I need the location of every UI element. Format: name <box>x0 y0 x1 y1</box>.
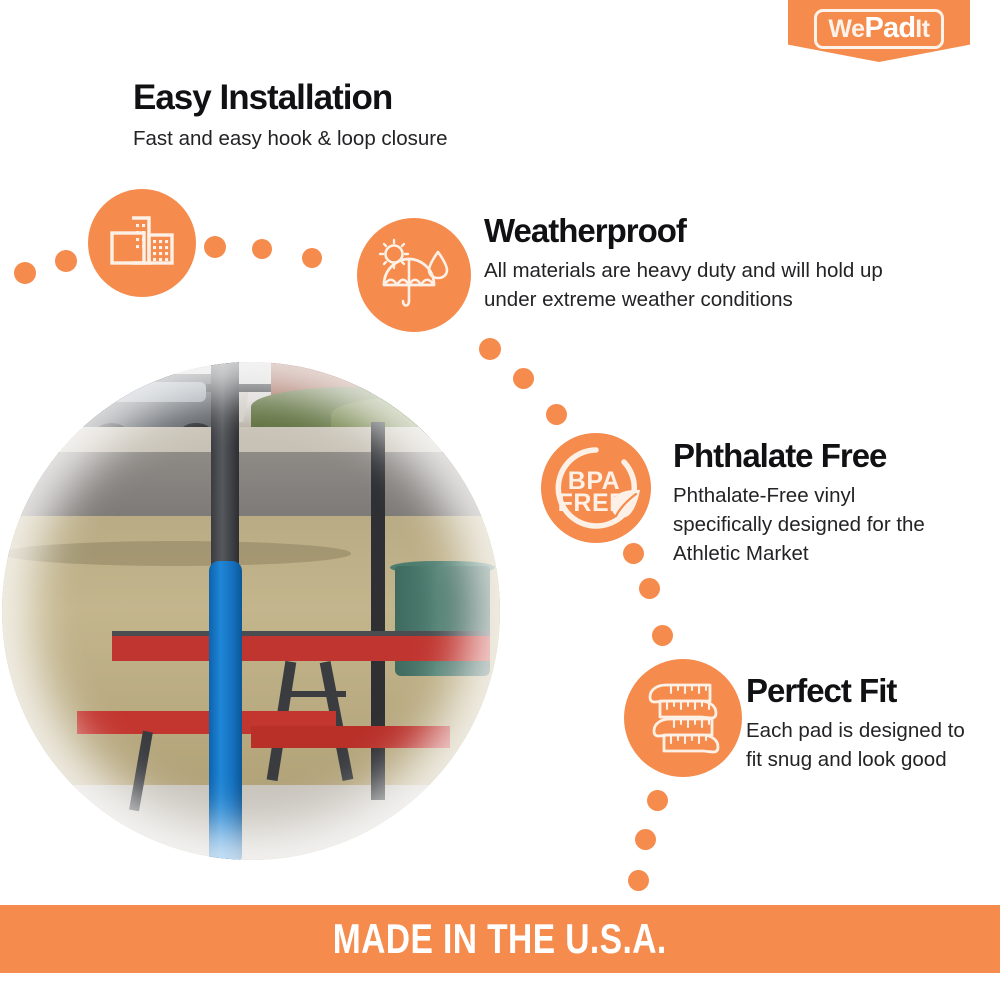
brand-logo-frame: We Pad It <box>814 9 943 49</box>
trail-dot <box>55 250 77 272</box>
feature-title-weatherproof: Weatherproof <box>484 213 686 249</box>
feature-description-perfect-fit: Each pad is designed to fit snug and loo… <box>746 716 974 774</box>
photo-vignette <box>2 362 500 860</box>
made-in-usa-banner: MADE IN THE U.S.A. <box>0 905 1000 973</box>
trail-dot <box>647 790 668 811</box>
trail-dot <box>204 236 226 258</box>
brand-logo: We Pad It <box>788 0 970 62</box>
product-photo <box>2 362 500 860</box>
bpa-free-leaf-icon: BPA FREE <box>541 433 651 543</box>
measuring-tape-icon <box>624 659 742 777</box>
building-icon <box>88 189 196 297</box>
umbrella-sun-rain-icon <box>357 218 471 332</box>
infographic-page: We Pad It Easy Installation Fast and eas… <box>0 0 1000 987</box>
feature-description-easy-installation: Fast and easy hook & loop closure <box>133 124 448 153</box>
brand-logo-pad: Pad <box>864 14 915 43</box>
trail-dot <box>639 578 660 599</box>
brand-logo-it: It <box>915 17 929 42</box>
trail-dot <box>513 368 534 389</box>
trail-dot <box>302 248 322 268</box>
feature-description-weatherproof: All materials are heavy duty and will ho… <box>484 256 884 314</box>
made-in-usa-text: MADE IN THE U.S.A. <box>333 915 667 963</box>
trail-dot <box>546 404 567 425</box>
trail-dot <box>635 829 656 850</box>
trail-dot <box>14 262 36 284</box>
feature-description-phthalate-free: Phthalate-Free vinyl specifically design… <box>673 481 931 568</box>
feature-title-easy-installation: Easy Installation <box>133 79 392 117</box>
trail-dot <box>623 543 644 564</box>
brand-logo-we: We <box>828 17 864 42</box>
trail-dot <box>652 625 673 646</box>
feature-title-phthalate-free: Phthalate Free <box>673 438 886 474</box>
trail-dot <box>479 338 501 360</box>
feature-title-perfect-fit: Perfect Fit <box>746 673 896 709</box>
trail-dot <box>252 239 272 259</box>
trail-dot <box>628 870 649 891</box>
